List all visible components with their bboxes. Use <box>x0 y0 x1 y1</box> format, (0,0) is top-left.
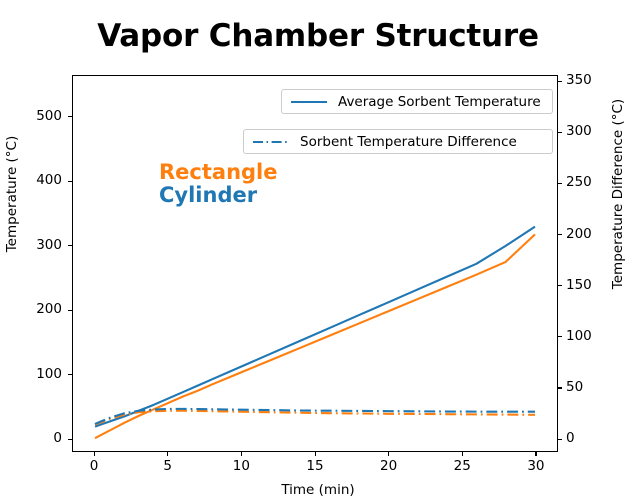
series-line-cylinder-solid <box>95 227 535 427</box>
y-tick-label-right: 0 <box>566 430 618 446</box>
x-tick-label: 0 <box>72 458 116 474</box>
tick-mark <box>558 336 562 337</box>
tick-mark <box>94 452 95 456</box>
y-tick-label-right: 250 <box>566 174 618 190</box>
legend-label-2: Sorbent Temperature Difference <box>300 134 517 150</box>
x-tick-label: 5 <box>146 458 190 474</box>
page-title: Vapor Chamber Structure <box>0 18 636 54</box>
tick-mark <box>558 234 562 235</box>
tick-mark <box>315 452 316 456</box>
matplotlib-figure: Vapor Chamber Structure Temperature (°C)… <box>0 0 636 502</box>
x-tick-label: 15 <box>293 458 337 474</box>
tick-mark <box>558 183 562 184</box>
tick-mark <box>68 439 72 440</box>
y-tick-label-left: 400 <box>10 172 62 188</box>
tick-mark <box>68 374 72 375</box>
x-tick-label: 20 <box>367 458 411 474</box>
y-tick-label-left: 500 <box>10 108 62 124</box>
series-line-rectangle-dashdot <box>95 411 535 425</box>
legend-label-1: Average Sorbent Temperature <box>338 94 541 110</box>
tick-mark <box>462 452 463 456</box>
tick-mark <box>558 81 562 82</box>
x-axis-title: Time (min) <box>0 482 636 498</box>
tick-mark <box>68 310 72 311</box>
tick-mark <box>388 452 389 456</box>
legend-line-solid-icon <box>290 95 328 109</box>
tick-mark <box>558 439 562 440</box>
y-tick-label-right: 200 <box>566 226 618 242</box>
legend-line-dashdot-icon <box>252 135 290 149</box>
y-tick-label-right: 150 <box>566 277 618 293</box>
tick-mark <box>167 452 168 456</box>
y-tick-label-left: 100 <box>10 366 62 382</box>
y-tick-label-right: 100 <box>566 328 618 344</box>
tick-mark <box>68 245 72 246</box>
y-tick-label-left: 300 <box>10 237 62 253</box>
tick-mark <box>558 285 562 286</box>
tick-mark <box>68 181 72 182</box>
y-tick-label-left: 200 <box>10 301 62 317</box>
series-key-rectangle: Rectangle <box>159 161 278 184</box>
series-line-rectangle-solid <box>95 234 535 438</box>
x-tick-label: 30 <box>514 458 558 474</box>
legend-sorbent-temperature-difference: Sorbent Temperature Difference <box>243 129 553 154</box>
tick-mark <box>68 116 72 117</box>
tick-mark <box>241 452 242 456</box>
series-key-cylinder: Cylinder <box>159 184 278 207</box>
series-key: Rectangle Cylinder <box>159 161 278 206</box>
y-tick-label-right: 300 <box>566 123 618 139</box>
x-tick-label: 25 <box>440 458 484 474</box>
legend-average-sorbent-temperature: Average Sorbent Temperature <box>281 89 553 114</box>
tick-mark <box>558 387 562 388</box>
x-tick-label: 10 <box>219 458 263 474</box>
y-tick-label-right: 350 <box>566 72 618 88</box>
tick-mark <box>535 452 536 456</box>
tick-mark <box>558 132 562 133</box>
y-tick-label-left: 0 <box>10 430 62 446</box>
y-tick-label-right: 50 <box>566 379 618 395</box>
